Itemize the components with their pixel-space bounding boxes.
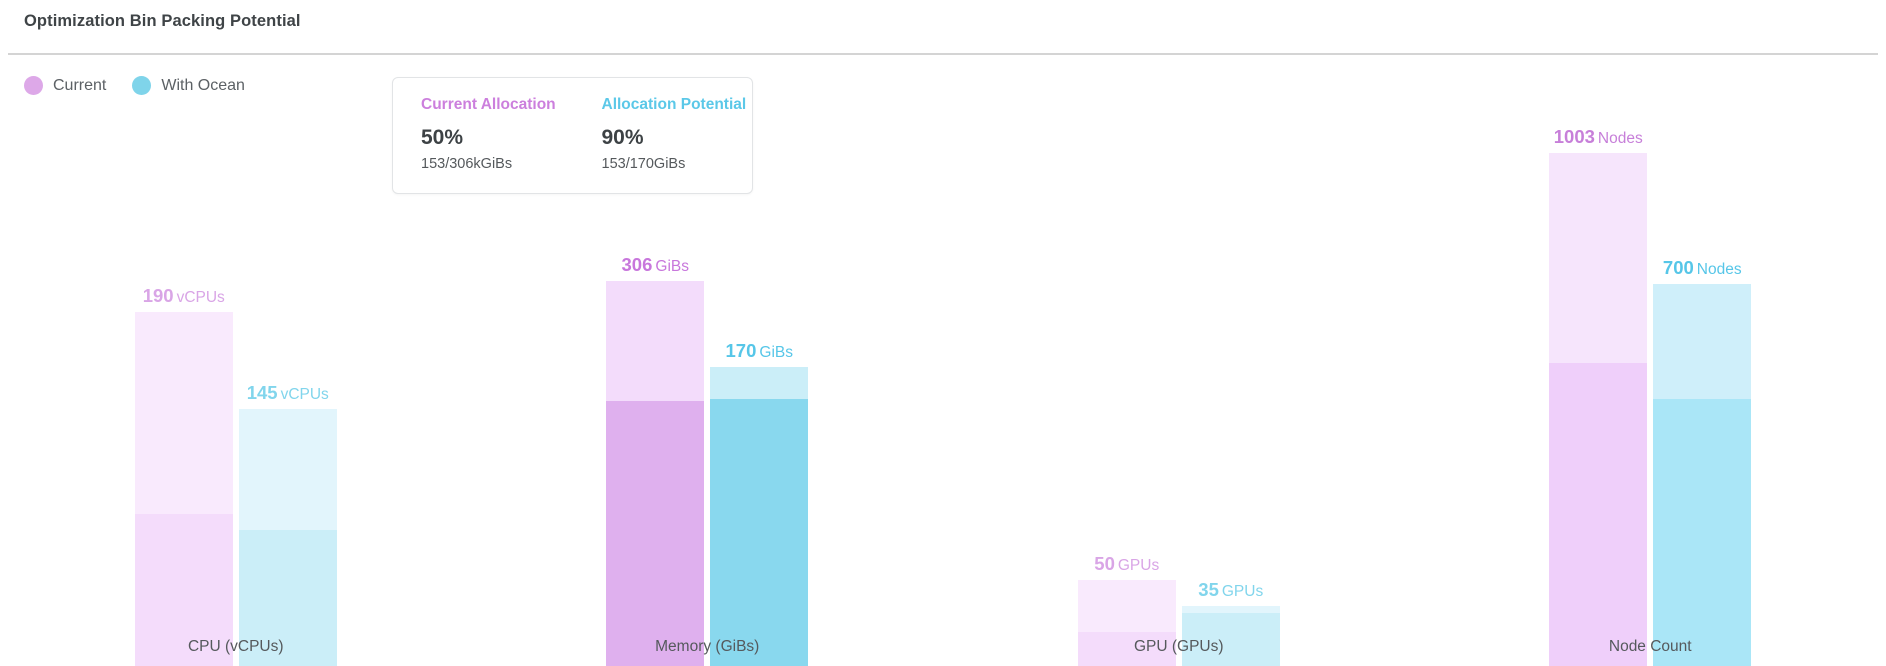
bar-value-unit: Nodes <box>1598 130 1643 147</box>
page-title: Optimization Bin Packing Potential <box>24 12 301 31</box>
bin-packing-panel: Optimization Bin Packing Potential Curre… <box>0 0 1886 666</box>
bar-value-unit: GiBs <box>655 258 689 275</box>
bar-segment-used <box>1549 363 1647 666</box>
bar-column[interactable]: 145vCPUs <box>239 384 337 666</box>
bar-value-label: 700Nodes <box>1663 259 1742 278</box>
bar-value-label: 50GPUs <box>1094 555 1159 574</box>
bar-value-label: 190vCPUs <box>143 287 225 306</box>
bar-group-gpu[interactable]: 50GPUs35GPUsGPU (GPUs) <box>943 60 1415 666</box>
bar-value-label: 170GiBs <box>726 342 793 361</box>
bar-with-ocean[interactable] <box>239 409 337 666</box>
bar-segment-used <box>606 401 704 666</box>
bar-value-unit: vCPUs <box>281 386 329 403</box>
bar-column[interactable]: 190vCPUs <box>135 287 233 666</box>
bar-value-number: 700 <box>1663 257 1694 278</box>
bar-column[interactable]: 170GiBs <box>710 342 808 666</box>
bar-value-label: 1003Nodes <box>1554 128 1643 147</box>
bar-segment-used <box>1653 399 1751 666</box>
header-divider <box>8 53 1878 55</box>
x-axis-label: Node Count <box>1415 638 1886 656</box>
bar-value-unit: GPUs <box>1222 583 1263 600</box>
bar-segment-unused <box>135 312 233 514</box>
x-axis-label: GPU (GPUs) <box>943 638 1415 656</box>
bar-value-number: 170 <box>726 340 757 361</box>
bar-current[interactable] <box>606 281 704 666</box>
bar-column[interactable]: 306GiBs <box>606 256 704 666</box>
bar-value-unit: GiBs <box>759 344 793 361</box>
bar-current[interactable] <box>1549 153 1647 666</box>
bar-value-unit: vCPUs <box>177 289 225 306</box>
bar-segment-unused <box>1078 580 1176 632</box>
bar-group-cpu[interactable]: 190vCPUs145vCPUsCPU (vCPUs) <box>0 60 472 666</box>
bar-segment-unused <box>1182 606 1280 613</box>
bar-value-number: 50 <box>1094 553 1115 574</box>
bar-value-label: 306GiBs <box>622 256 689 275</box>
bar-segment-unused <box>1653 284 1751 399</box>
bar-value-number: 190 <box>143 285 174 306</box>
bar-value-number: 1003 <box>1554 126 1595 147</box>
bar-value-number: 145 <box>247 382 278 403</box>
bar-with-ocean[interactable] <box>1182 606 1280 666</box>
bar-value-number: 306 <box>622 254 653 275</box>
bar-group-memory[interactable]: 306GiBs170GiBsMemory (GiBs) <box>472 60 944 666</box>
bar-segment-unused <box>239 409 337 530</box>
bar-value-label: 35GPUs <box>1198 581 1263 600</box>
bar-segment-unused <box>1549 153 1647 363</box>
x-axis-label: Memory (GiBs) <box>472 638 944 656</box>
bar-segment-used <box>710 399 808 666</box>
bar-with-ocean[interactable] <box>1653 284 1751 666</box>
bar-value-unit: GPUs <box>1118 557 1159 574</box>
bar-value-label: 145vCPUs <box>247 384 329 403</box>
bar-segment-unused <box>710 367 808 399</box>
bar-current[interactable] <box>135 312 233 666</box>
x-axis-label: CPU (vCPUs) <box>0 638 472 656</box>
bar-value-unit: Nodes <box>1697 261 1742 278</box>
bar-segment-unused <box>606 281 704 401</box>
bar-column[interactable]: 1003Nodes <box>1549 128 1647 666</box>
bar-value-number: 35 <box>1198 579 1219 600</box>
bar-column[interactable]: 700Nodes <box>1653 259 1751 666</box>
bar-with-ocean[interactable] <box>710 367 808 666</box>
bar-chart-plot: 190vCPUs145vCPUsCPU (vCPUs)306GiBs170GiB… <box>0 60 1886 666</box>
bar-group-node[interactable]: 1003Nodes700NodesNode Count <box>1415 60 1886 666</box>
